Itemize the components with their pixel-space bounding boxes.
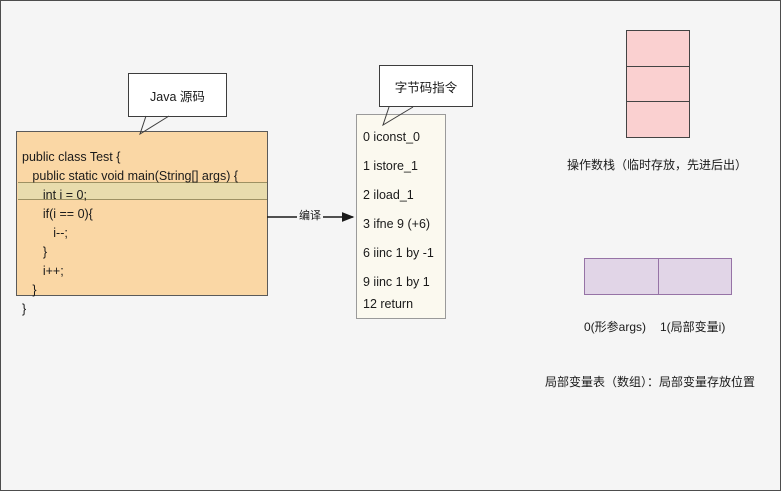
local-variable-table xyxy=(584,258,732,295)
local-variable-slot-0 xyxy=(584,258,659,295)
callout-java-source: Java 源码 xyxy=(128,73,227,117)
local-variable-slot-1 xyxy=(658,258,733,295)
operand-stack-cell xyxy=(626,30,690,67)
operand-stack xyxy=(626,30,690,140)
operand-stack-caption: 操作数栈（临时存放，先进后出） xyxy=(567,156,747,173)
diagram-canvas: public class Test { public static void m… xyxy=(0,0,781,491)
callout-bytecode: 字节码指令 xyxy=(379,65,473,107)
bytecode-line: 9 iinc 1 by 1 xyxy=(363,275,430,289)
bytecode-line: 0 iconst_0 xyxy=(363,130,420,144)
operand-stack-cell xyxy=(626,66,690,103)
operand-stack-cell xyxy=(626,101,690,138)
callout-bytecode-tail xyxy=(373,105,433,130)
local-variable-table-caption: 局部变量表（数组）：局部变量存放位置 xyxy=(545,373,755,390)
callout-java-source-tail xyxy=(128,115,188,139)
compile-arrow-label: 编译 xyxy=(297,207,323,223)
java-source-code-box: public class Test { public static void m… xyxy=(16,131,268,296)
bytecode-line: 2 iload_1 xyxy=(363,188,414,202)
bytecode-line: 6 iinc 1 by -1 xyxy=(363,246,434,260)
bytecode-line: 12 return xyxy=(363,297,413,311)
bytecode-line: 1 istore_1 xyxy=(363,159,418,173)
callout-java-source-label: Java 源码 xyxy=(150,86,205,105)
local-variable-slot-0-label: 0(形参args) xyxy=(584,318,646,335)
java-source-code-text: public class Test { public static void m… xyxy=(22,148,238,319)
bytecode-line: 3 ifne 9 (+6) xyxy=(363,217,430,231)
local-variable-slot-1-label: 1(局部变量i) xyxy=(660,318,725,335)
callout-bytecode-label: 字节码指令 xyxy=(395,77,458,96)
bytecode-instruction-box: 0 iconst_0 1 istore_1 2 iload_1 3 ifne 9… xyxy=(356,114,446,319)
